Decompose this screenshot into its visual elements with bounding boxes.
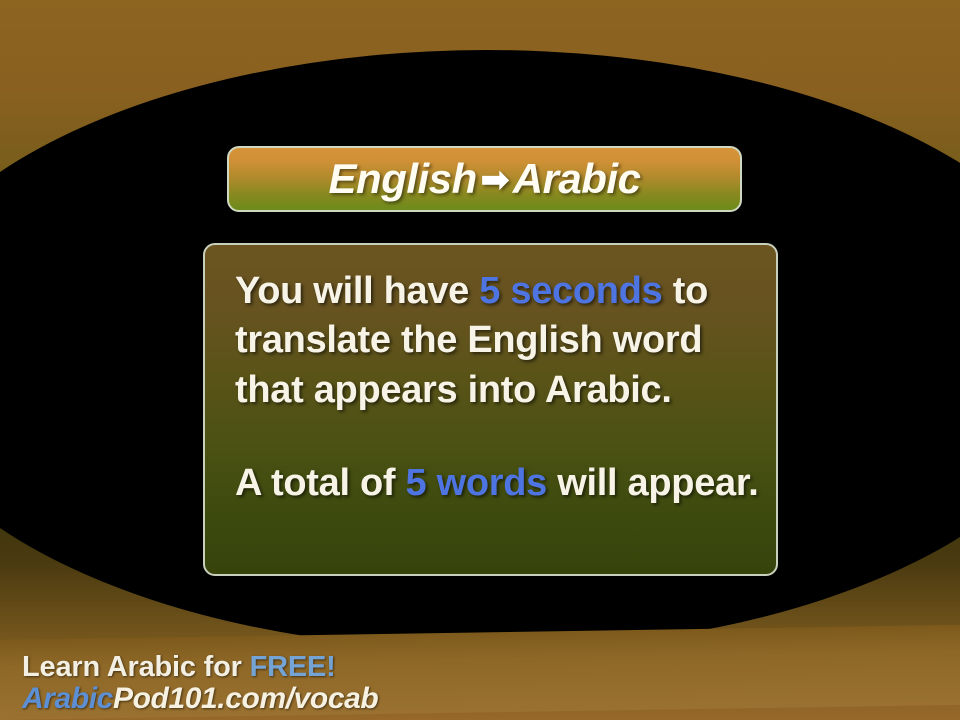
language-direction-banner: English ➡ Arabic	[227, 146, 742, 212]
footer-brand-prefix: Arabic	[22, 682, 113, 715]
instruction-panel: You will have 5 seconds to translate the…	[203, 243, 778, 576]
footer-free-highlight: FREE!	[250, 651, 336, 683]
arrow-right-icon: ➡	[481, 163, 509, 197]
footer-tagline-prefix: Learn Arabic for	[22, 651, 250, 683]
seconds-highlight: 5 seconds	[479, 270, 662, 312]
instruction-line-1-suffix: to	[662, 270, 708, 312]
instruction-line-1: You will have 5 seconds to	[235, 267, 746, 316]
video-frame: English ➡ Arabic You will have 5 seconds…	[0, 0, 960, 720]
source-language-label: English	[329, 155, 477, 203]
footer-url[interactable]: ArabicPod101.com/vocab	[22, 683, 722, 715]
footer-brand-suffix: Pod101.com/vocab	[113, 682, 378, 715]
instruction-line-4-suffix: will appear.	[547, 462, 759, 504]
instruction-line-3: that appears into Arabic.	[235, 366, 746, 415]
instruction-line-2: translate the English word	[235, 316, 746, 365]
instruction-line-1-prefix: You will have	[235, 270, 479, 312]
instruction-line-4-prefix: A total of	[235, 462, 405, 504]
footer-tagline: Learn Arabic for FREE!	[22, 652, 722, 682]
target-language-label: Arabic	[513, 155, 641, 203]
word-count-highlight: 5 words	[405, 462, 547, 504]
language-direction-label: English ➡ Arabic	[329, 155, 641, 203]
paragraph-spacer	[235, 415, 746, 459]
footer-branding: Learn Arabic for FREE! ArabicPod101.com/…	[22, 652, 722, 714]
instruction-line-4: A total of 5 words will appear.	[235, 459, 746, 508]
